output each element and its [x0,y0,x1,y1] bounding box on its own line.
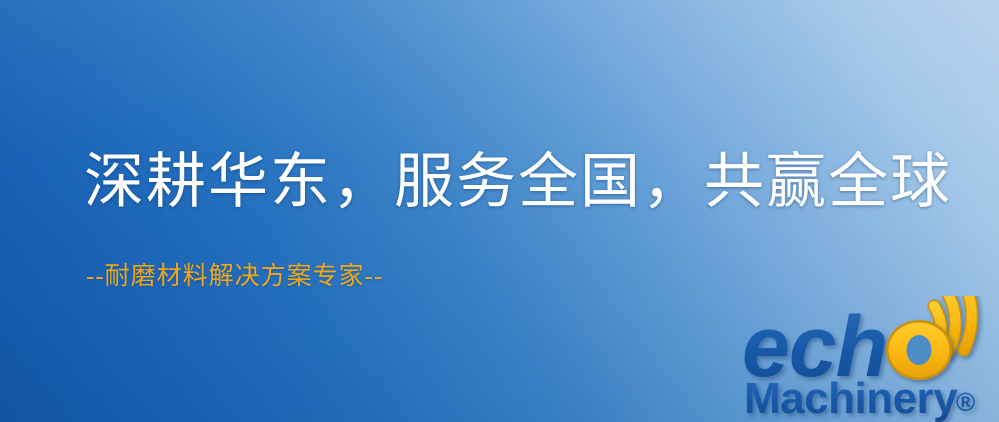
promotional-banner: 深耕华东，服务全国，共赢全球 --耐磨材料解决方案专家-- [0,0,999,422]
logo-letter-o [886,320,952,380]
logo-tagline-machinery: Machinery ® [744,374,975,422]
svg-text:Machinery: Machinery [744,374,958,422]
page-title: 深耕华东，服务全国，共赢全球 [84,152,952,212]
echo-machinery-logo[interactable]: ech Machinery ® [742,296,999,422]
banner-subtitle: --耐磨材料解决方案专家-- [86,264,383,289]
svg-text:®: ® [956,387,975,417]
